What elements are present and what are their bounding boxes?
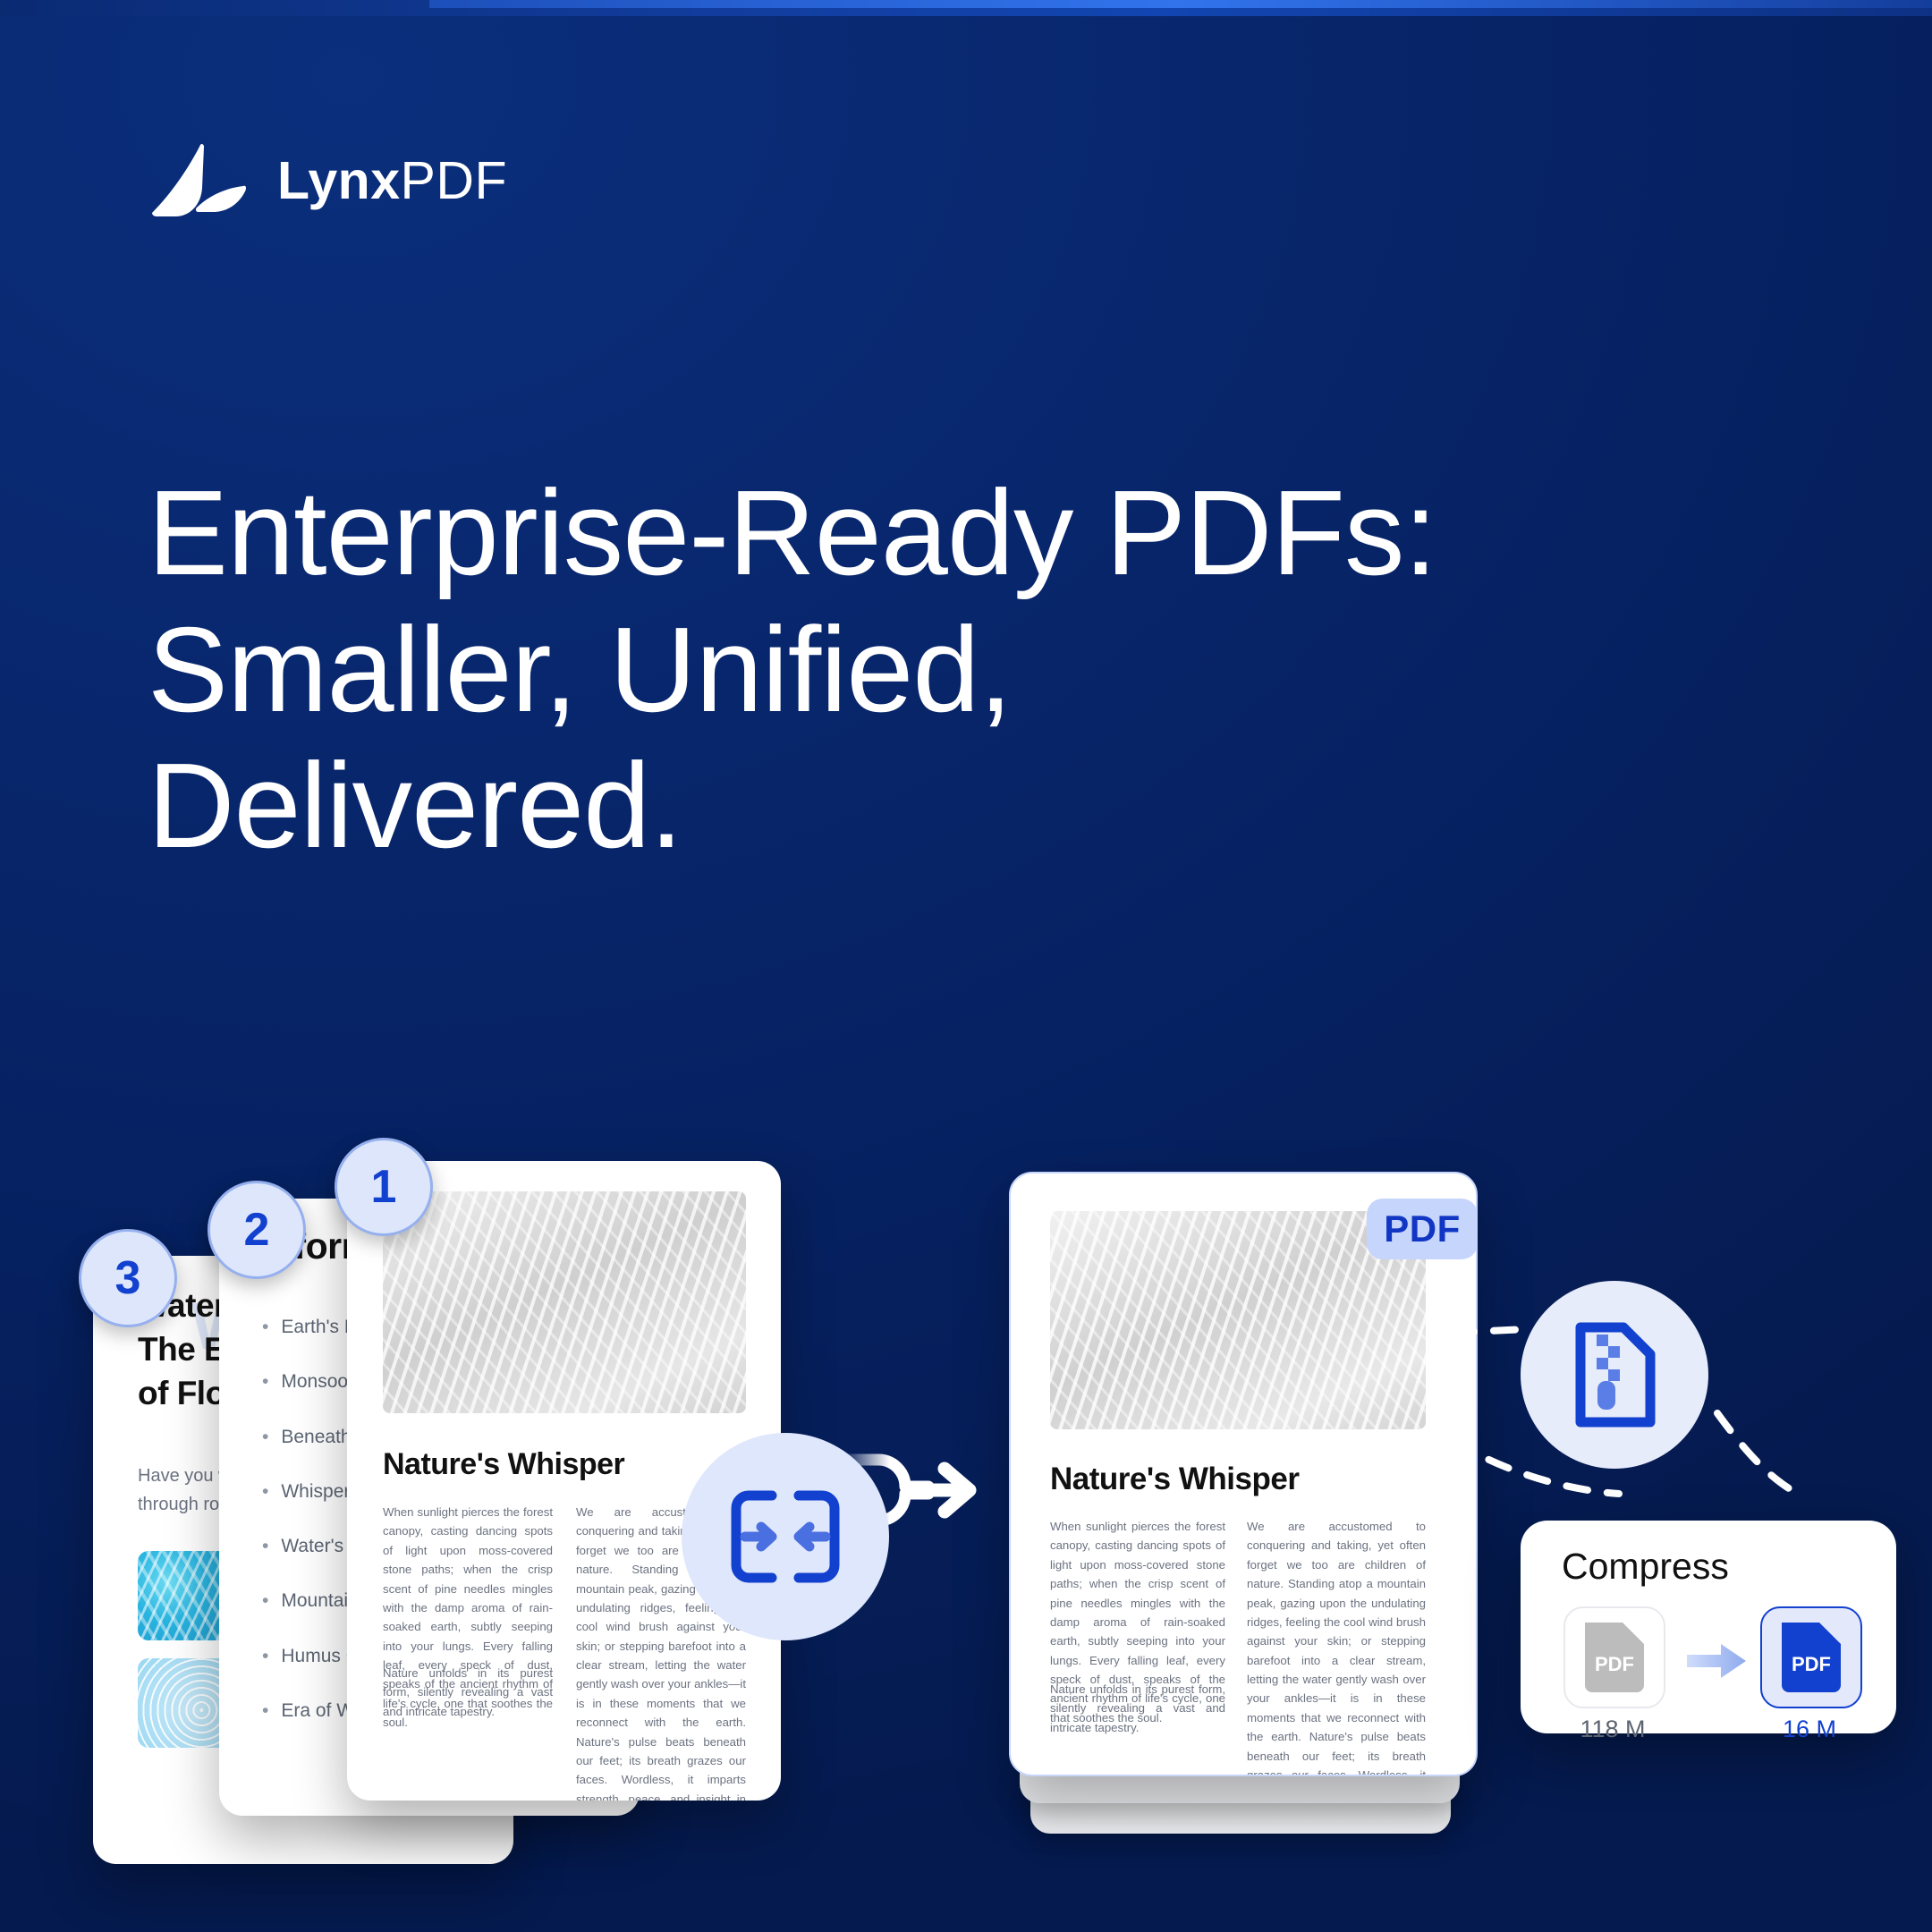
headline-line-2: Smaller, Unified, (148, 602, 1758, 739)
poster-canvas: LynxPDF Enterprise-Ready PDFs: Smaller, … (0, 0, 1932, 1932)
card1-col1-p2: Nature unfolds in its purest form, silen… (383, 1664, 553, 1721)
step-2-number: 2 (244, 1203, 270, 1257)
right-arrow-icon (1687, 1642, 1748, 1684)
brand-logo[interactable]: LynxPDF (150, 143, 507, 218)
pdf-format-badge: PDF (1367, 1199, 1478, 1259)
result-col2-p1: We are accustomed to conquering and taki… (1247, 1517, 1426, 1776)
compress-before-size: 118 M (1555, 1716, 1671, 1743)
result-title: Nature's Whisper (1050, 1462, 1299, 1497)
bullet-dot-icon: • (262, 1589, 268, 1613)
pdf-badge-label: PDF (1384, 1207, 1461, 1250)
headline-line-1: Enterprise-Ready PDFs: (148, 465, 1758, 602)
step-1-number: 1 (371, 1160, 397, 1214)
brand-name-bold: Lynx (277, 151, 401, 210)
card1-hero-image (383, 1191, 746, 1413)
before-pdf-label: PDF (1595, 1653, 1634, 1675)
bullet-dot-icon: • (262, 1699, 268, 1723)
card1-title: Nature's Whisper (383, 1447, 624, 1482)
compressed-file-icon[interactable] (1521, 1281, 1708, 1469)
bullet-dot-icon: • (262, 1369, 268, 1394)
brand-name-light: PDF (401, 151, 508, 210)
compress-after-size: 16 M (1751, 1716, 1868, 1743)
bullet-dot-icon: • (262, 1534, 268, 1558)
result-col1-p2: Nature unfolds in its purest form, silen… (1050, 1680, 1225, 1737)
compress-panel-title: Compress (1562, 1546, 1729, 1588)
top-accent-highlight (429, 0, 1932, 8)
bullet-dot-icon: • (262, 1425, 268, 1449)
step-badge-3: 3 (79, 1229, 177, 1327)
step-3-number: 3 (115, 1251, 141, 1305)
headline-line-3: Delivered. (148, 738, 1758, 875)
lynx-leaf-mark-icon (150, 143, 250, 218)
bullet-dot-icon: • (262, 1315, 268, 1339)
bullet-dot-icon: • (262, 1479, 268, 1504)
page-title: Enterprise-Ready PDFs: Smaller, Unified,… (148, 465, 1758, 875)
step-badge-2: 2 (208, 1181, 306, 1279)
compress-before-tile: PDF (1563, 1606, 1665, 1708)
compress-panel[interactable]: Compress PDF 118 M PDF 16 M (1521, 1521, 1896, 1733)
step-badge-1: 1 (335, 1138, 433, 1236)
bullet-dot-icon: • (262, 1644, 268, 1668)
result-document-card[interactable]: Nature's Whisper When sunlight pierces t… (1009, 1172, 1478, 1776)
brand-name: LynxPDF (277, 150, 507, 211)
merge-documents-icon[interactable] (682, 1433, 889, 1640)
compress-after-tile: PDF (1760, 1606, 1862, 1708)
after-pdf-label: PDF (1792, 1653, 1831, 1675)
